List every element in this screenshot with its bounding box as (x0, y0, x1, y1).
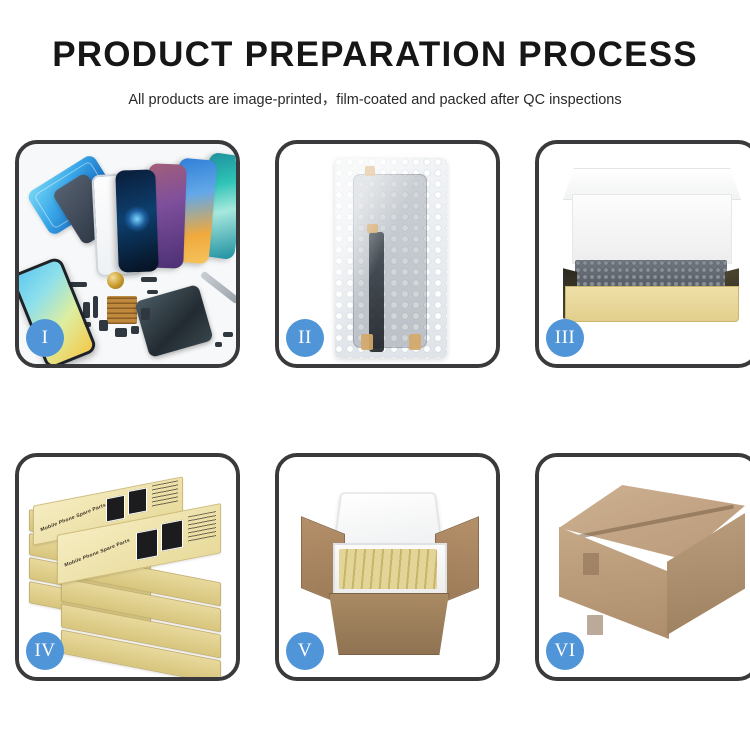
process-step-3[interactable]: III (535, 140, 750, 368)
spare-part-icon (141, 277, 157, 282)
spare-part-icon (141, 308, 150, 320)
process-step-4[interactable]: Mobile Phone Spare Parts Mobile Phone Sp… (15, 453, 240, 681)
box-product-photo (161, 519, 183, 551)
page-header: PRODUCT PREPARATION PROCESS All products… (0, 0, 750, 109)
tape-icon (365, 166, 375, 176)
step-badge-6: VI (546, 632, 584, 670)
spare-part-icon (115, 328, 127, 337)
antistatic-foam-tray-icon (575, 260, 727, 288)
spare-part-icon (147, 290, 158, 294)
process-step-2[interactable]: II (275, 140, 500, 368)
foam-lid-icon (333, 492, 443, 545)
box-product-photo (106, 495, 125, 523)
tape-icon (361, 334, 373, 350)
stacked-retail-boxes-icon (339, 549, 437, 589)
phone-display-1-icon (115, 169, 159, 272)
box-product-photo (128, 487, 147, 515)
process-step-5[interactable]: V (275, 453, 500, 681)
process-step-1[interactable]: I (15, 140, 240, 368)
process-step-grid: I II III (15, 140, 735, 681)
page-subtitle: All products are image-printed，film-coat… (0, 88, 750, 109)
spare-part-icon (93, 296, 98, 318)
spare-part-icon (131, 326, 139, 334)
box-front-panel-icon (565, 286, 739, 322)
bubble-wrap-bag-icon (335, 158, 447, 358)
foam-backing-icon (572, 194, 732, 264)
page-title: PRODUCT PREPARATION PROCESS (0, 36, 750, 75)
tape-icon (409, 334, 421, 350)
tweezers-icon (200, 271, 236, 305)
tape-icon (367, 224, 378, 233)
spare-part-icon (99, 320, 108, 331)
box-label-text: Mobile Phone Spare Parts (64, 538, 130, 569)
process-step-6[interactable]: VI (535, 453, 750, 681)
carton-front-icon (329, 593, 449, 655)
step-badge-5: V (286, 632, 324, 670)
spare-part-icon (215, 342, 222, 347)
spare-part-icon (223, 332, 233, 337)
step-badge-1: I (26, 319, 64, 357)
step-badge-2: II (286, 319, 324, 357)
carton-tape-icon (583, 553, 599, 575)
box-spec-lines (152, 480, 178, 507)
box-product-photo (136, 528, 158, 560)
chip-grid-icon (107, 296, 137, 324)
carton-tape-icon (587, 615, 603, 635)
screen-assembly-icon (353, 174, 427, 348)
wireless-coil-icon (107, 272, 124, 289)
step-badge-3: III (546, 319, 584, 357)
phone-chassis-icon (134, 284, 213, 358)
step-badge-4: IV (26, 632, 64, 670)
box-spec-lines (188, 511, 216, 542)
